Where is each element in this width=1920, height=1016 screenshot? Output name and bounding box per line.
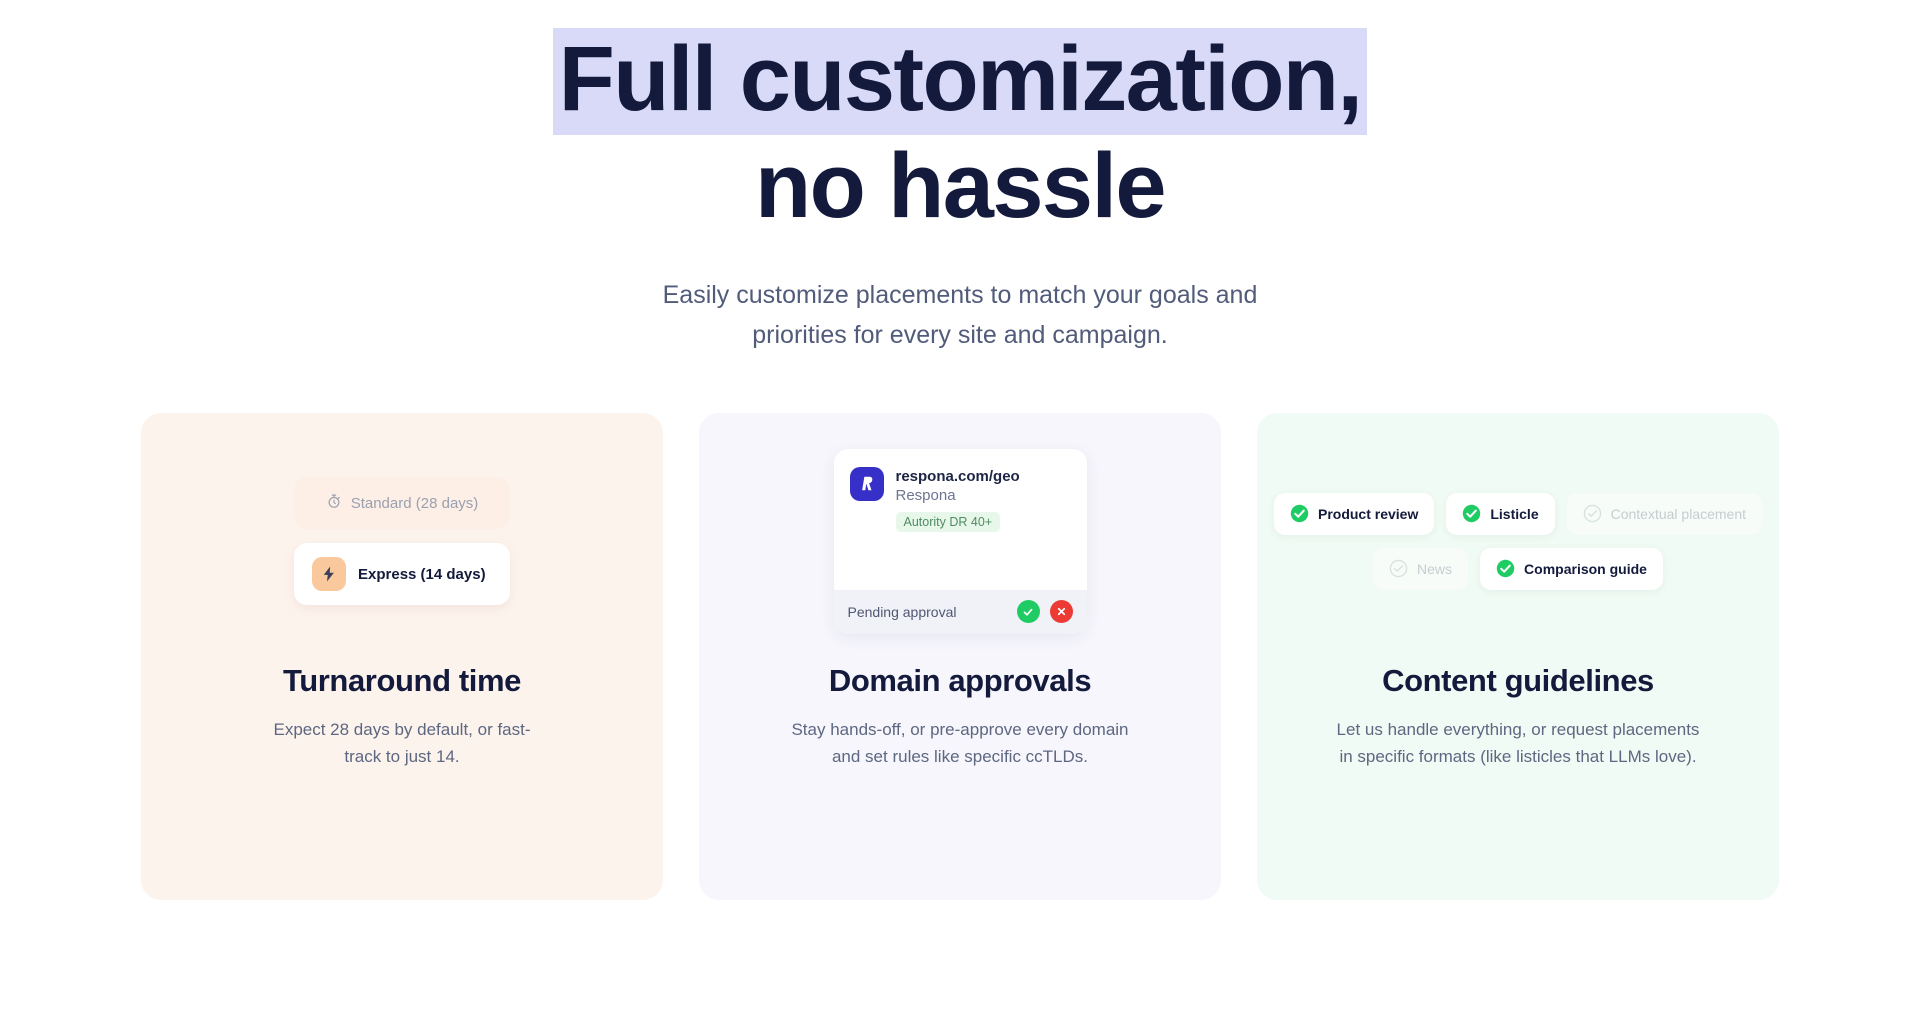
content-pill-row-2: News Comparison guide — [1283, 548, 1753, 590]
domain-url: respona.com/geo — [896, 467, 1020, 486]
feature-cards-row: Standard (28 days) Express (14 days) Tur… — [95, 413, 1825, 900]
check-circle-outline-icon — [1389, 559, 1408, 578]
feature-card-domain-approvals: respona.com/geo Respona Autority DR 40+ … — [699, 413, 1221, 900]
stopwatch-icon — [326, 493, 342, 513]
card-desc-content: Let us handle everything, or request pla… — [1337, 717, 1700, 771]
pill-product-review[interactable]: Product review — [1274, 493, 1434, 535]
card-title-domain: Domain approvals — [829, 663, 1091, 699]
domain-card[interactable]: respona.com/geo Respona Autority DR 40+ … — [834, 449, 1087, 634]
pill-label: Contextual placement — [1611, 506, 1746, 522]
pill-label: Listicle — [1490, 506, 1538, 522]
headline-line-2: no hassle — [0, 135, 1920, 238]
content-pill-row-1: Product review Listicle — [1283, 493, 1753, 535]
domain-header: respona.com/geo Respona Autority DR 40+ — [850, 467, 1071, 533]
pill-comparison-guide[interactable]: Comparison guide — [1480, 548, 1663, 590]
card-desc-line-2: track to just 14. — [273, 744, 530, 771]
turnaround-options-visual: Standard (28 days) Express (14 days) — [141, 423, 663, 659]
card-desc-line-2: and set rules like specific ccTLDs. — [791, 744, 1128, 771]
option-standard[interactable]: Standard (28 days) — [294, 477, 510, 529]
card-desc-turnaround: Expect 28 days by default, or fast- trac… — [273, 717, 530, 771]
pill-contextual-placement[interactable]: Contextual placement — [1567, 493, 1762, 535]
card-desc-domain: Stay hands-off, or pre-approve every dom… — [791, 717, 1128, 771]
check-circle-icon — [1462, 504, 1481, 523]
card-desc-line-1: Let us handle everything, or request pla… — [1337, 717, 1700, 744]
feature-card-turnaround-time: Standard (28 days) Express (14 days) Tur… — [141, 413, 663, 900]
pill-label: News — [1417, 561, 1452, 577]
pill-label: Product review — [1318, 506, 1418, 522]
card-title-turnaround: Turnaround time — [283, 663, 521, 699]
reject-close-icon[interactable] — [1050, 600, 1073, 623]
page-title: Full customization, no hassle — [0, 28, 1920, 238]
option-standard-label: Standard (28 days) — [351, 495, 479, 512]
subtitle-line-1: Easily customize placements to match you… — [0, 276, 1920, 316]
domain-approval-footer: Pending approval — [834, 590, 1087, 634]
card-desc-line-2: in specific formats (like listicles that… — [1337, 744, 1700, 771]
card-desc-line-1: Expect 28 days by default, or fast- — [273, 717, 530, 744]
option-express[interactable]: Express (14 days) — [294, 543, 510, 605]
hero-section: Full customization, no hassle Easily cus… — [0, 0, 1920, 355]
domain-approval-visual: respona.com/geo Respona Autority DR 40+ … — [699, 423, 1221, 659]
pill-label: Comparison guide — [1524, 561, 1647, 577]
respona-logo-icon — [850, 467, 884, 501]
card-title-content: Content guidelines — [1382, 663, 1654, 699]
option-express-label: Express (14 days) — [358, 566, 486, 583]
lightning-bolt-icon — [312, 557, 346, 591]
status-badge: Pending approval — [848, 604, 1007, 620]
subtitle-line-2: priorities for every site and campaign. — [0, 316, 1920, 356]
headline-highlight: Full customization, — [553, 28, 1368, 135]
domain-authority-badge: Autority DR 40+ — [896, 512, 1001, 532]
turnaround-option-list: Standard (28 days) Express (14 days) — [294, 477, 510, 605]
content-format-pills-visual: Product review Listicle — [1257, 423, 1779, 659]
domain-info: respona.com/geo Respona Autority DR 40+ — [896, 467, 1020, 533]
check-circle-outline-icon — [1583, 504, 1602, 523]
card-desc-line-1: Stay hands-off, or pre-approve every dom… — [791, 717, 1128, 744]
approve-check-icon[interactable] — [1017, 600, 1040, 623]
check-circle-icon — [1496, 559, 1515, 578]
headline-line-1: Full customization, — [0, 28, 1920, 135]
feature-card-content-guidelines: Product review Listicle — [1257, 413, 1779, 900]
pill-listicle[interactable]: Listicle — [1446, 493, 1554, 535]
pill-news[interactable]: News — [1373, 548, 1468, 590]
domain-name: Respona — [896, 486, 1020, 506]
page-subtitle: Easily customize placements to match you… — [0, 276, 1920, 355]
page-root: Full customization, no hassle Easily cus… — [0, 0, 1920, 1016]
check-circle-icon — [1290, 504, 1309, 523]
